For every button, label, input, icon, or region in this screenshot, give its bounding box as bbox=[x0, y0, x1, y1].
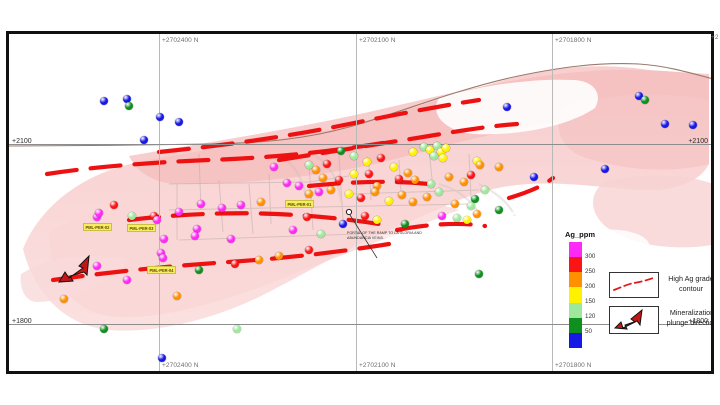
colorbar-band bbox=[569, 257, 582, 272]
colorbar-band bbox=[569, 333, 582, 348]
legend-contour-swatch bbox=[609, 272, 659, 298]
ag-ppm-colorbar bbox=[569, 242, 582, 348]
drill-hole-label[interactable]: PML-PER-04 bbox=[147, 266, 176, 274]
colorbar-tick-label: 50 bbox=[585, 328, 592, 335]
legend-plunge-label-line1: Mineralization bbox=[670, 308, 711, 317]
legend-plunge-label-line2: plunge direction bbox=[667, 318, 711, 327]
map-frame: +2702400 N +2702100 N +2701800 N +270240… bbox=[6, 31, 714, 374]
colorbar-tick-label: 150 bbox=[585, 298, 595, 305]
colorbar-band bbox=[569, 272, 582, 287]
map-canvas: +2702400 N +2702100 N +2701800 N +270240… bbox=[9, 34, 711, 371]
colorbar-band bbox=[569, 318, 582, 333]
colorbar-tick-label: 300 bbox=[585, 253, 595, 260]
colorbar-tick-label: 120 bbox=[585, 313, 595, 320]
drill-hole-label[interactable]: PML-PER-03 bbox=[127, 224, 156, 232]
legend-plunge-label: Mineralization plunge direction bbox=[661, 308, 711, 329]
legend-plunge-swatch bbox=[609, 306, 659, 334]
legend-contour-label-line2: contour bbox=[679, 284, 703, 293]
drill-hole-label[interactable]: PML-PER-02 bbox=[83, 223, 112, 231]
long-section-map: N S Long Section La Gloria Vein bbox=[0, 0, 720, 405]
colorbar-tick-label: 250 bbox=[585, 268, 595, 275]
legend-contour-label-line1: High Ag grade bbox=[668, 274, 711, 283]
drill-hole-labels-layer: PML-PER-02PML-PER-03PML-PER-04PML-PER-01 bbox=[9, 34, 711, 371]
legend-contour-label: High Ag grade contour bbox=[661, 274, 711, 295]
colorbar-band bbox=[569, 303, 582, 318]
colorbar-band bbox=[569, 287, 582, 302]
colorbar-band bbox=[569, 242, 582, 257]
colorbar-tick-label: 200 bbox=[585, 283, 595, 290]
grid-label-clipped: +2 bbox=[711, 34, 719, 41]
colorbar-title: Ag_ppm bbox=[565, 230, 595, 239]
drill-hole-label[interactable]: PML-PER-01 bbox=[285, 200, 314, 208]
